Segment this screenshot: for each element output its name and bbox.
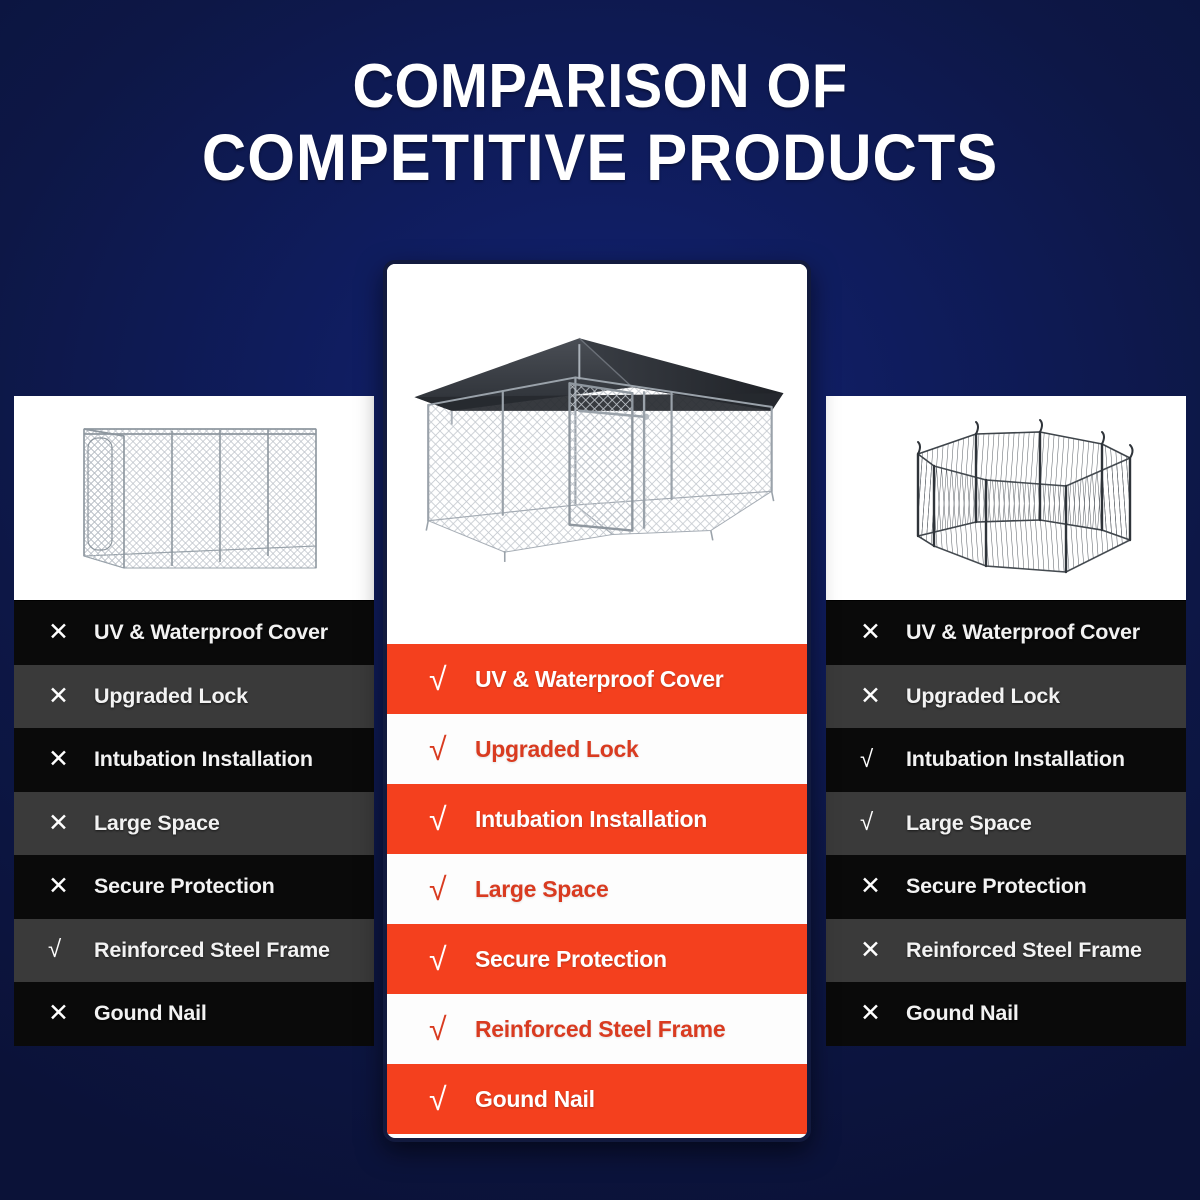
check-icon: √ (860, 811, 906, 835)
feature-row: √ Large Space (826, 792, 1186, 856)
feature-row: ✕ UV & Waterproof Cover (14, 601, 374, 665)
feature-label: Upgraded Lock (475, 736, 639, 763)
feature-row: ✕ Reinforced Steel Frame (826, 919, 1186, 983)
feature-row-featured: √ Upgraded Lock (387, 714, 807, 784)
feature-label: Gound Nail (475, 1086, 595, 1113)
feature-label: Intubation Installation (94, 747, 313, 772)
feature-label: Reinforced Steel Frame (94, 938, 330, 963)
feature-row: ✕ Intubation Installation (14, 728, 374, 792)
feature-label: Intubation Installation (906, 747, 1125, 772)
feature-label: Gound Nail (906, 1001, 1019, 1026)
check-icon: √ (860, 748, 906, 772)
feature-label: Upgraded Lock (906, 684, 1060, 709)
feature-row-featured: √ UV & Waterproof Cover (387, 644, 807, 714)
metal-playpen-panels-icon (826, 396, 1186, 600)
feature-row: √ Reinforced Steel Frame (14, 919, 374, 983)
feature-label: UV & Waterproof Cover (475, 666, 723, 693)
feature-row: ✕ Secure Protection (826, 855, 1186, 919)
feature-row-featured: √ Secure Protection (387, 924, 807, 994)
feature-row: ✕ Large Space (14, 792, 374, 856)
feature-row: ✕ Gound Nail (14, 982, 374, 1046)
feature-rows-left: ✕ UV & Waterproof Cover ✕ Upgraded Lock … (14, 600, 374, 1046)
product-photo-center (387, 264, 807, 644)
page-title: COMPARISON OF COMPETITIVE PRODUCTS (42, 52, 1158, 195)
cross-icon: ✕ (860, 620, 906, 645)
cross-icon: ✕ (48, 747, 94, 772)
check-icon: √ (429, 803, 475, 835)
product-photo-right (826, 396, 1186, 600)
feature-row: ✕ Secure Protection (14, 855, 374, 919)
feature-label: Intubation Installation (475, 806, 707, 833)
competitor-column-right: ✕ UV & Waterproof Cover ✕ Upgraded Lock … (826, 396, 1186, 1046)
feature-label: UV & Waterproof Cover (94, 620, 328, 645)
cross-icon: ✕ (860, 874, 906, 899)
chain-link-kennel-no-roof-icon (14, 396, 374, 600)
cross-icon: ✕ (48, 1001, 94, 1026)
feature-row-featured: √ Gound Nail (387, 1064, 807, 1134)
cross-icon: ✕ (860, 938, 906, 963)
check-icon: √ (429, 663, 475, 695)
cross-icon: ✕ (48, 874, 94, 899)
check-icon: √ (429, 1083, 475, 1115)
feature-rows-center: √ UV & Waterproof Cover √ Upgraded Lock … (387, 644, 807, 1134)
feature-label: Secure Protection (906, 874, 1087, 899)
product-photo-left (14, 396, 374, 600)
check-icon: √ (429, 943, 475, 975)
feature-row-featured: √ Intubation Installation (387, 784, 807, 854)
feature-row: ✕ Upgraded Lock (14, 665, 374, 729)
feature-row: √ Intubation Installation (826, 728, 1186, 792)
cross-icon: ✕ (48, 684, 94, 709)
feature-label: Reinforced Steel Frame (475, 1016, 725, 1043)
feature-row: ✕ Gound Nail (826, 982, 1186, 1046)
feature-label: Gound Nail (94, 1001, 207, 1026)
check-icon: √ (429, 873, 475, 905)
feature-row: ✕ UV & Waterproof Cover (826, 601, 1186, 665)
check-icon: √ (429, 733, 475, 765)
feature-row-featured: √ Large Space (387, 854, 807, 924)
cross-icon: ✕ (48, 620, 94, 645)
feature-label: Large Space (906, 811, 1032, 836)
feature-rows-right: ✕ UV & Waterproof Cover ✕ Upgraded Lock … (826, 600, 1186, 1046)
feature-label: UV & Waterproof Cover (906, 620, 1140, 645)
feature-label: Upgraded Lock (94, 684, 248, 709)
cross-icon: ✕ (860, 1001, 906, 1026)
cross-icon: ✕ (48, 811, 94, 836)
chain-link-kennel-with-roof-icon (387, 264, 807, 644)
feature-label: Secure Protection (94, 874, 275, 899)
page-title-line-1: COMPARISON OF (42, 52, 1158, 121)
page-title-line-2: COMPETITIVE PRODUCTS (42, 121, 1158, 195)
featured-product-column: √ UV & Waterproof Cover √ Upgraded Lock … (383, 260, 811, 1142)
feature-row: ✕ Upgraded Lock (826, 665, 1186, 729)
feature-label: Large Space (94, 811, 220, 836)
feature-label: Large Space (475, 876, 609, 903)
feature-row-featured: √ Reinforced Steel Frame (387, 994, 807, 1064)
cross-icon: ✕ (860, 684, 906, 709)
competitor-column-left: ✕ UV & Waterproof Cover ✕ Upgraded Lock … (14, 396, 374, 1046)
feature-label: Secure Protection (475, 946, 667, 973)
check-icon: √ (48, 938, 94, 962)
check-icon: √ (429, 1013, 475, 1045)
feature-label: Reinforced Steel Frame (906, 938, 1142, 963)
